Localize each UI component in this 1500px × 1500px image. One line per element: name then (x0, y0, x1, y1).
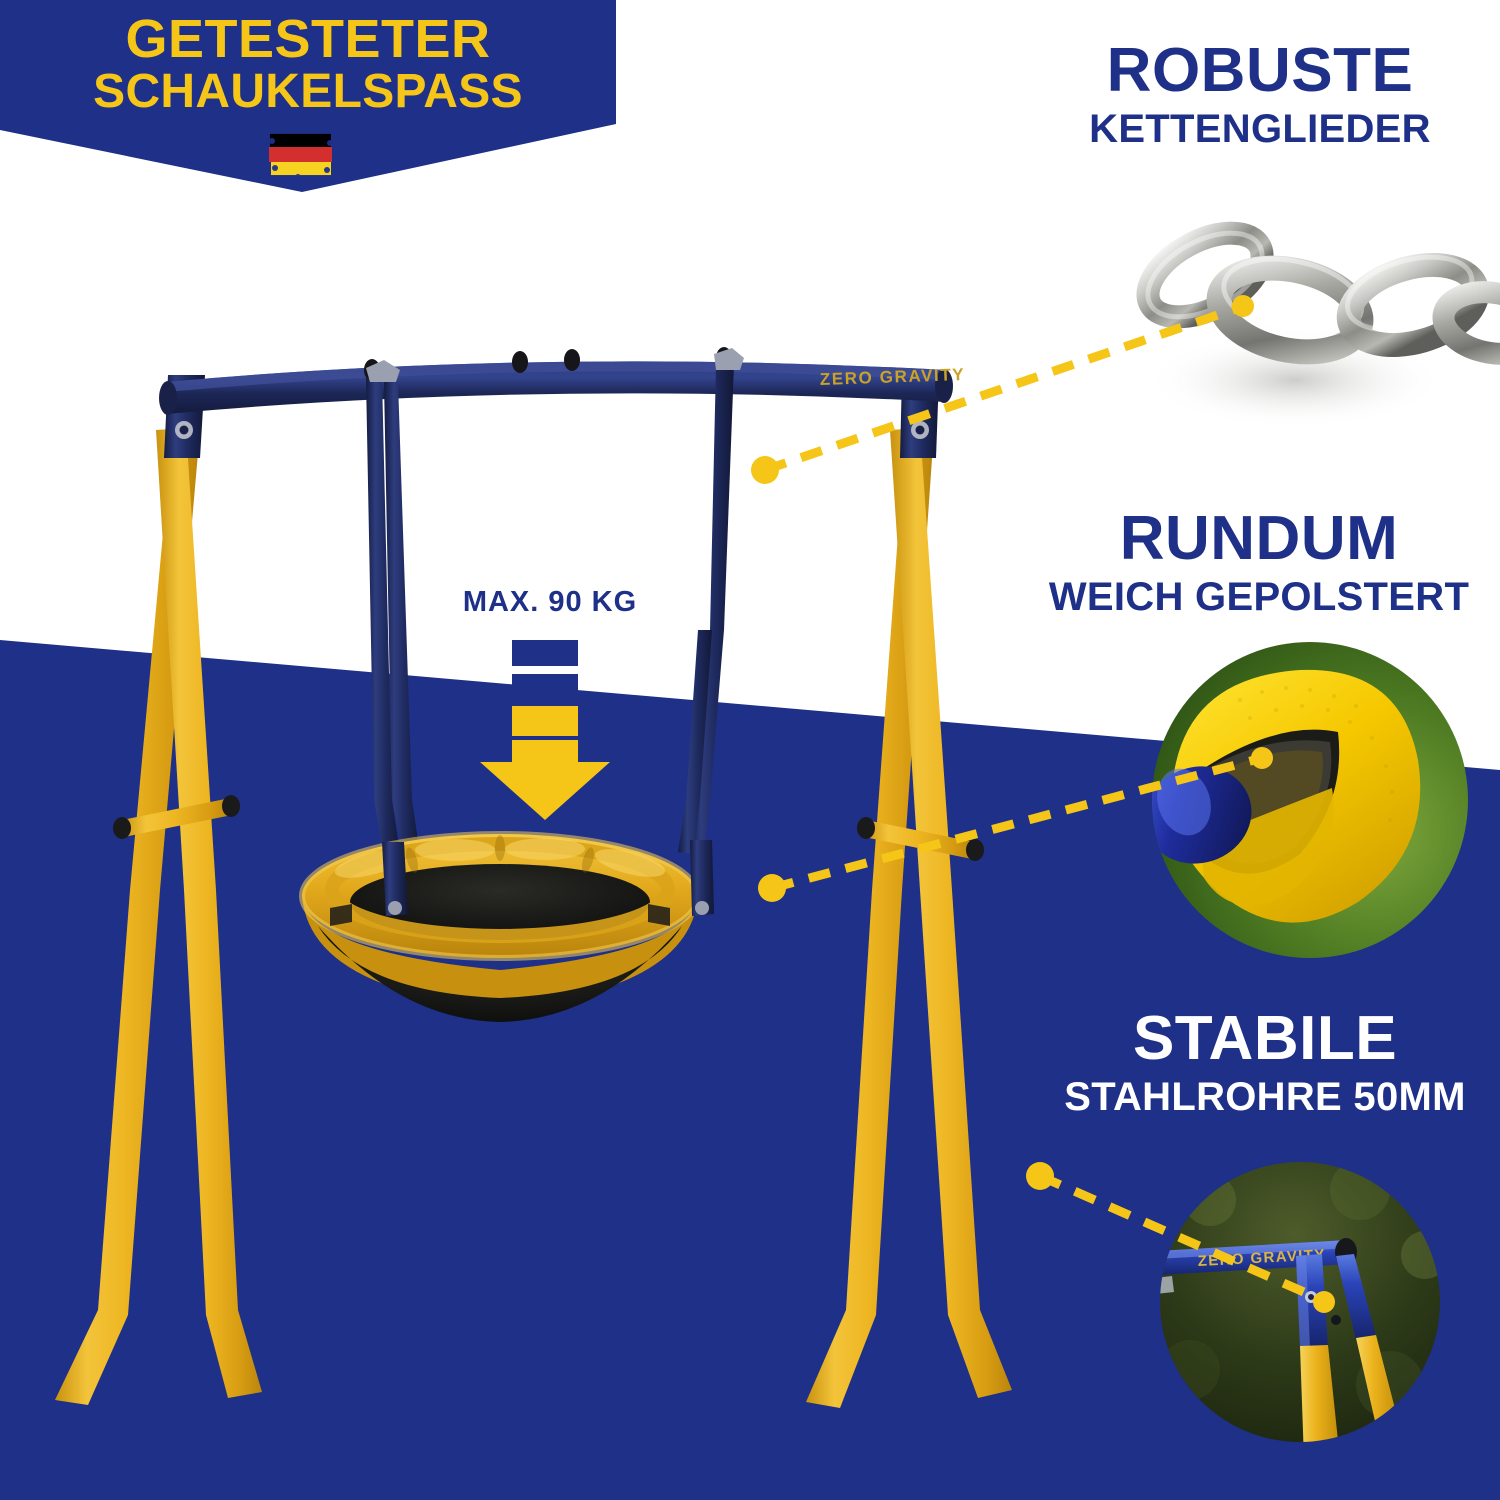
callout-padding: RUNDUM WEICH GEPOLSTERT (1018, 508, 1500, 618)
banner-line-2: SCHAUKELSPASS (0, 67, 616, 117)
left-leg-group (55, 375, 262, 1405)
product-illustration: ZERO GRAVITY (0, 330, 1060, 1410)
banner-text-block: GETESTETER SCHAUKELSPASS (0, 12, 616, 117)
nest-swing-seat (302, 834, 714, 1022)
detail-photo-chain (1085, 205, 1500, 465)
right-leg-group (806, 375, 1012, 1408)
detail-photo-steel: ZERO GRAVITY (1150, 1160, 1470, 1460)
callout-steel-subheading: STAHLROHRE 50MM (1030, 1076, 1500, 1118)
down-arrow-icon (470, 640, 620, 820)
max-load-text: MAX. 90 KG (463, 586, 637, 618)
callout-steel-heading: STABILE (1030, 1008, 1500, 1070)
callout-chain: ROBUSTE KETTENGLIEDER (1020, 40, 1500, 150)
german-flag-icon (268, 132, 334, 178)
callout-steel: STABILE STAHLROHRE 50MM (1030, 1008, 1500, 1118)
detail-photo-padding (1150, 640, 1470, 960)
callout-chain-heading: ROBUSTE (1020, 40, 1500, 102)
tested-badge-banner: GETESTETER SCHAUKELSPASS (0, 0, 640, 210)
callout-padding-heading: RUNDUM (1018, 508, 1500, 570)
max-load-label: MAX. 90 KG (430, 586, 670, 619)
callout-padding-subheading: WEICH GEPOLSTERT (1018, 576, 1500, 618)
infographic-canvas: ZERO GRAVITY (0, 0, 1500, 1500)
banner-line-1: GETESTETER (0, 12, 616, 67)
callout-chain-subheading: KETTENGLIEDER (1020, 108, 1500, 150)
top-beam: ZERO GRAVITY (159, 347, 966, 415)
